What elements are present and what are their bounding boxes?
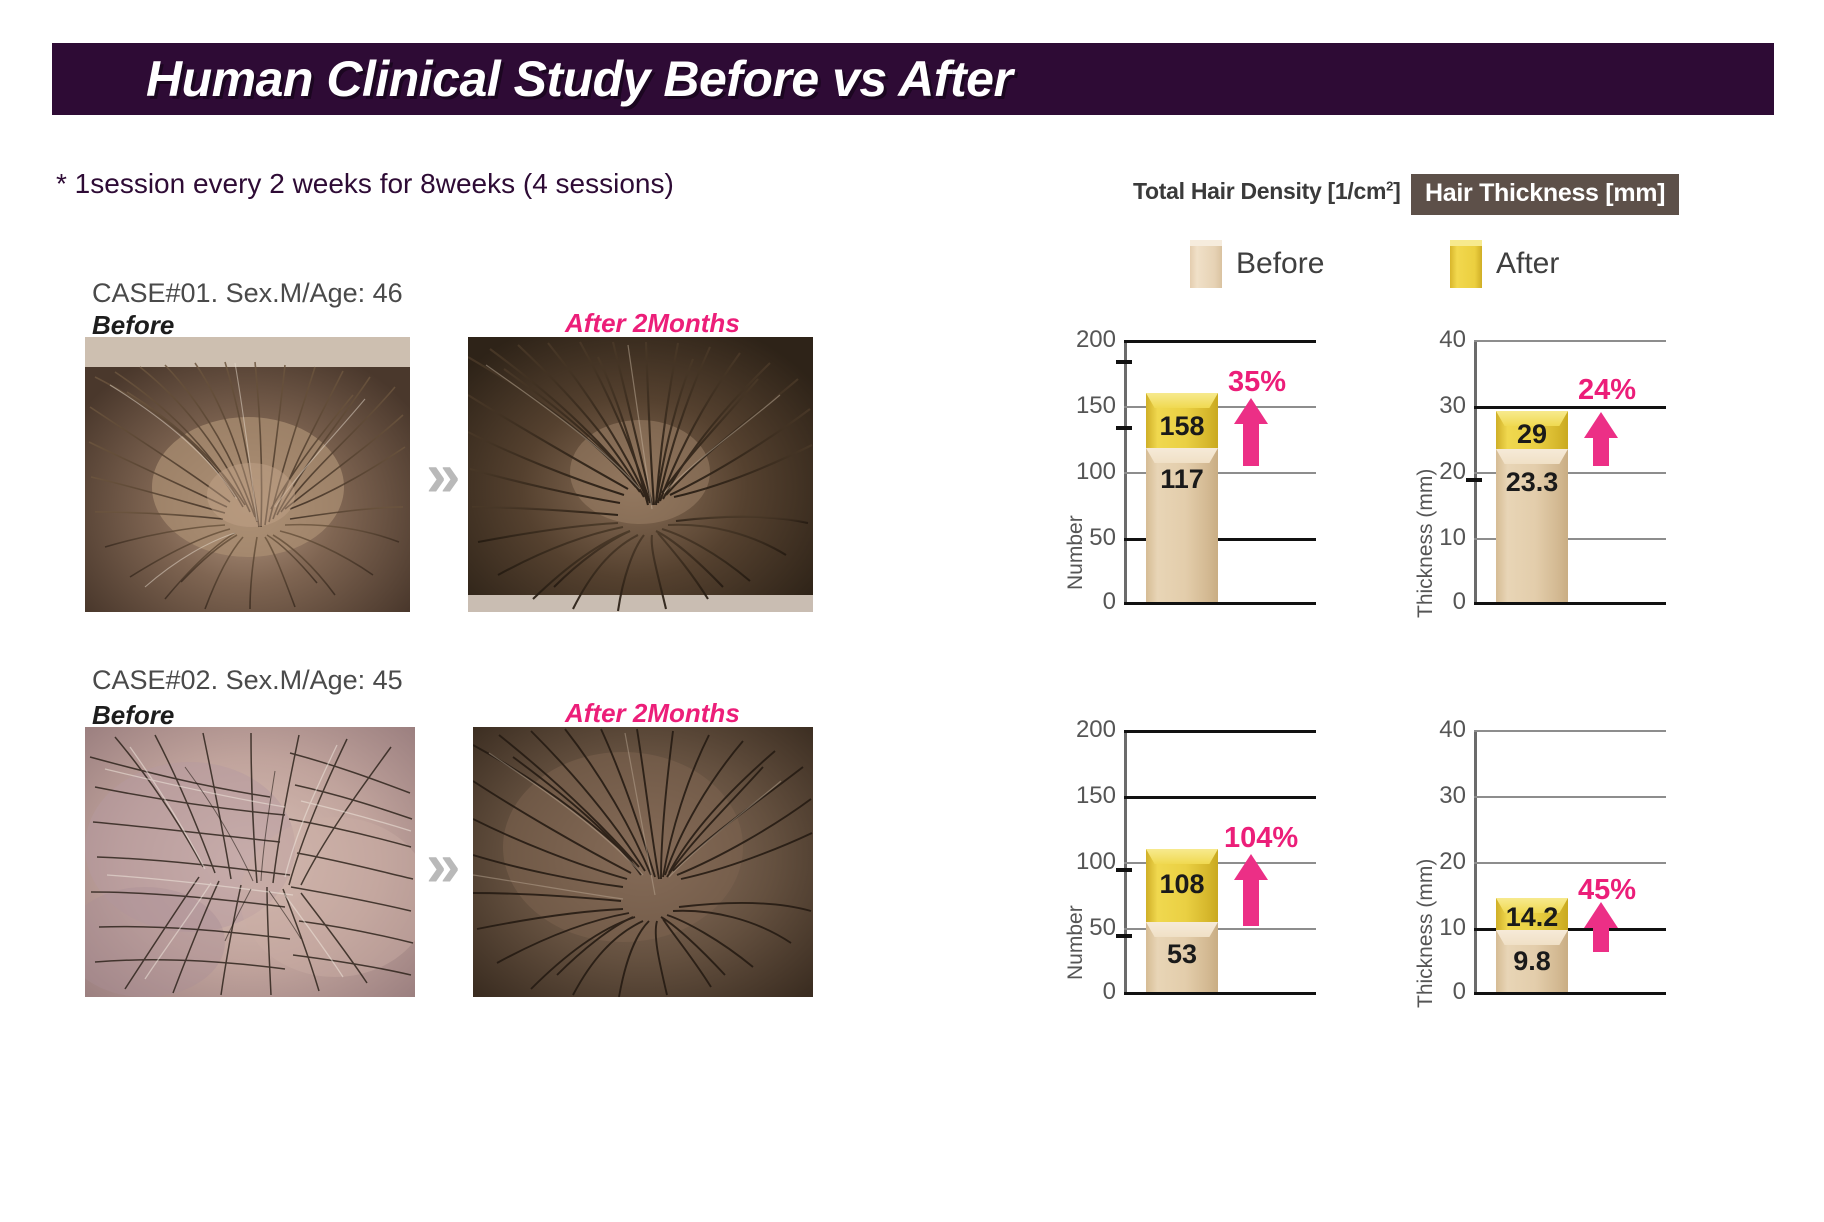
bar-cap-before [1496, 449, 1568, 464]
ytick-mark-150 [1116, 360, 1132, 364]
ytick-label-40: 40 [1400, 326, 1466, 354]
bar-value-after: 108 [1146, 869, 1218, 900]
ytick-label-20: 20 [1400, 848, 1466, 876]
gridline-20 [1474, 862, 1666, 864]
case-2-after-label: After 2Months [565, 698, 740, 729]
case-1-arrow-icon: » [426, 445, 460, 507]
legend-key-before: Before [1190, 240, 1324, 288]
bar-cap-before [1146, 922, 1218, 937]
bar-cap-before [1146, 448, 1218, 463]
gridline-0 [1474, 992, 1666, 995]
gridline-30 [1474, 796, 1666, 798]
ytick-label-150: 150 [1050, 782, 1116, 810]
legend-swatch-after-icon [1450, 240, 1482, 288]
chart-case1-density-annotation: 35% [1228, 366, 1286, 399]
ytick-mark-100 [1116, 426, 1132, 430]
chart-case2-density: Number 108 53 104% 200 150 100 50 0 [1050, 730, 1370, 1020]
bar-value-after: 29 [1496, 419, 1568, 450]
gridline-30 [1474, 406, 1666, 409]
gridline-40 [1474, 340, 1666, 342]
case-2-after-photo [473, 727, 813, 997]
ytick-label-50: 50 [1050, 524, 1116, 552]
case-2-before-photo [85, 727, 415, 997]
arrow-shaft [1593, 926, 1609, 952]
bar-value-after: 158 [1146, 411, 1218, 442]
ytick-mark-50 [1116, 934, 1132, 938]
chart-case2-density-annotation: 104% [1224, 822, 1298, 855]
gridline-150 [1124, 796, 1316, 799]
chart-case2-thickness-plot: 14.2 9.8 45% [1474, 730, 1720, 994]
chart-case1-thickness-plot: 29 23.3 24% [1474, 340, 1720, 604]
chart-case1-thickness-annotation: 24% [1578, 374, 1636, 407]
arrow-head [1584, 902, 1618, 928]
arrow-head [1234, 854, 1268, 880]
case-label-2: CASE#02. Sex.M/Age: 45 [92, 665, 403, 696]
study-protocol-note: * 1session every 2 weeks for 8weeks (4 s… [56, 168, 674, 200]
legend-density-text-end: ] [1393, 178, 1400, 204]
gridline-200 [1124, 730, 1316, 733]
arrow-head [1584, 412, 1618, 438]
bar-value-after: 14.2 [1496, 902, 1568, 933]
case-1-after-photo [468, 337, 813, 612]
ytick-label-0: 0 [1050, 978, 1116, 1006]
legend-swatch-before-icon [1190, 240, 1222, 288]
increase-arrow-icon [1234, 398, 1268, 466]
gridline-200 [1124, 340, 1316, 343]
arrow-shaft [1243, 422, 1259, 466]
legend-density-title: Total Hair Density [1/cm2] [1133, 178, 1400, 205]
bar-case1-density: 158 117 [1146, 393, 1218, 602]
ytick-label-200: 200 [1050, 716, 1116, 744]
arrow-head [1234, 398, 1268, 424]
bar-value-before: 117 [1146, 464, 1218, 495]
bar-case2-thickness: 14.2 9.8 [1496, 898, 1568, 992]
chart-case2-density-plot: 108 53 104% [1124, 730, 1370, 994]
ytick-label-100: 100 [1050, 458, 1116, 486]
ytick-label-40: 40 [1400, 716, 1466, 744]
gridline-0 [1124, 992, 1316, 995]
ytick-label-100: 100 [1050, 848, 1116, 876]
ytick-label-200: 200 [1050, 326, 1116, 354]
ytick-label-50: 50 [1050, 914, 1116, 942]
legend-key-after: After [1450, 240, 1559, 288]
case-1-after-photo-image [468, 337, 813, 612]
bar-case1-thickness: 29 23.3 [1496, 411, 1568, 602]
case-2-before-photo-image [85, 727, 415, 997]
chart-case1-thickness: Thickness (mm) 29 23.3 24% 40 30 20 10 0 [1400, 340, 1720, 630]
gridline-0 [1124, 602, 1316, 605]
chart-case2-thickness: Thickness (mm) 14.2 9.8 45% 40 30 20 10 … [1400, 730, 1720, 1020]
ytick-label-20: 20 [1400, 458, 1466, 486]
legend-label-before: Before [1236, 247, 1324, 281]
arrow-shaft [1593, 436, 1609, 466]
bar-cap-after [1146, 849, 1218, 864]
increase-arrow-icon [1234, 854, 1268, 926]
bar-cap-after [1146, 393, 1218, 408]
page-title: Human Clinical Study Before vs After [146, 50, 1012, 108]
ytick-label-0: 0 [1400, 978, 1466, 1006]
ytick-label-150: 150 [1050, 392, 1116, 420]
title-bar: Human Clinical Study Before vs After [52, 43, 1774, 115]
legend-density-text: Total Hair Density [1/cm [1133, 178, 1386, 204]
gridline-40 [1474, 730, 1666, 732]
ytick-label-10: 10 [1400, 524, 1466, 552]
ytick-mark-100 [1116, 868, 1132, 872]
ytick-label-10: 10 [1400, 914, 1466, 942]
gridline-0 [1474, 602, 1666, 605]
bar-value-before: 53 [1146, 939, 1218, 970]
legend-thickness-title: Hair Thickness [mm] [1411, 174, 1679, 215]
ytick-label-30: 30 [1400, 392, 1466, 420]
bar-value-before: 23.3 [1496, 467, 1568, 498]
bar-value-before: 9.8 [1496, 946, 1568, 977]
ytick-label-0: 0 [1400, 588, 1466, 616]
bar-case2-density: 108 53 [1146, 849, 1218, 992]
case-label-1: CASE#01. Sex.M/Age: 46 [92, 278, 403, 309]
legend-header: Total Hair Density [1/cm2] Hair Thicknes… [1133, 178, 1813, 218]
increase-arrow-icon [1584, 412, 1618, 466]
chart-case1-density-plot: 158 117 35% [1124, 340, 1370, 604]
legend-label-after: After [1496, 247, 1559, 281]
arrow-shaft [1243, 878, 1259, 926]
ytick-label-30: 30 [1400, 782, 1466, 810]
ytick-label-0: 0 [1050, 588, 1116, 616]
case-2-after-photo-image [473, 727, 813, 997]
case-1-before-photo-image [85, 337, 410, 612]
legend-keys: Before After [1190, 240, 1810, 290]
case-1-before-photo [85, 337, 410, 612]
case-1-after-label: After 2Months [565, 308, 740, 339]
ytick-mark-20 [1466, 478, 1482, 482]
case-2-arrow-icon: » [426, 835, 460, 897]
chart-case1-density: Number 158 117 35% 200 150 100 50 0 [1050, 340, 1370, 630]
increase-arrow-icon [1584, 902, 1618, 952]
